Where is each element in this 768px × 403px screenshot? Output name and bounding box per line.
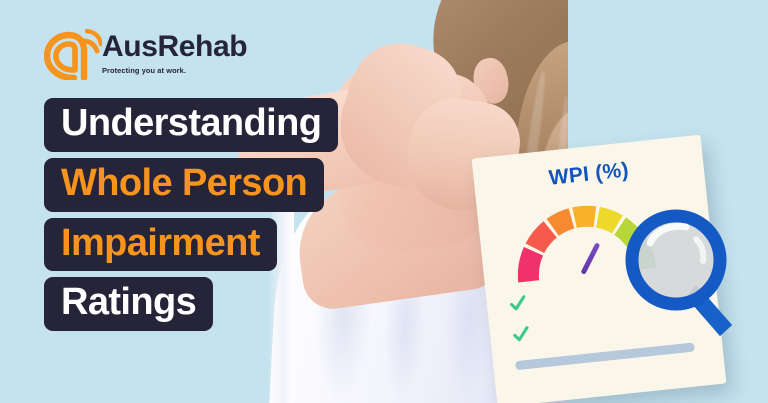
logo-tagline: Protecting you at work. bbox=[102, 66, 247, 75]
headline-line-3-text: Impairment bbox=[61, 222, 260, 264]
check-mark-icon bbox=[508, 294, 528, 314]
headline-line-2: Whole Person bbox=[44, 158, 324, 212]
headline-line-1: Understanding bbox=[44, 98, 338, 152]
headline-line-4-text: Ratings bbox=[61, 281, 196, 323]
ausrehab-signal-a-icon bbox=[44, 28, 102, 80]
headline-line-4: Ratings bbox=[44, 277, 213, 331]
ausrehab-logo[interactable]: AusRehab Protecting you at work. bbox=[44, 26, 234, 84]
headline: Understanding Whole Person Impairment Ra… bbox=[44, 98, 338, 337]
headline-line-3: Impairment bbox=[44, 218, 277, 272]
banner-canvas: AusRehab Protecting you at work. Underst… bbox=[0, 0, 768, 403]
headline-line-1-text: Understanding bbox=[61, 102, 321, 144]
logo-name: AusRehab bbox=[102, 32, 247, 62]
magnifying-glass-icon bbox=[620, 203, 750, 343]
headline-line-2-text: Whole Person bbox=[61, 162, 307, 204]
logo-text-group: AusRehab Protecting you at work. bbox=[102, 32, 247, 75]
check-mark-icon bbox=[511, 325, 531, 345]
